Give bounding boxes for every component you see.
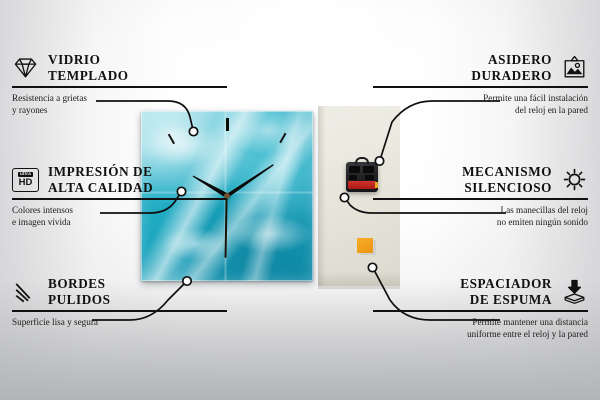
feature-divider bbox=[373, 198, 588, 199]
picture-frame-hanger-icon bbox=[561, 54, 588, 81]
feature-divider bbox=[373, 86, 588, 87]
wire-endpoint-espaciador bbox=[368, 263, 376, 271]
foam-spacer-arrow-icon bbox=[561, 278, 588, 305]
feature-header: ESPACIADOR DE ESPUMA bbox=[373, 276, 588, 307]
feature-header: ultra HD IMPRESIÓN DE ALTA CALIDAD bbox=[12, 164, 227, 195]
feature-title: VIDRIO TEMPLADO bbox=[48, 52, 129, 83]
feature-header: MECANISMO SILENCIOSO bbox=[373, 164, 588, 195]
ultra-hd-badge-icon: ultra HD bbox=[12, 168, 39, 192]
feature-divider bbox=[12, 310, 227, 311]
feature-title: ESPACIADOR DE ESPUMA bbox=[460, 276, 552, 307]
feature-description: Permite una fácil instalación del reloj … bbox=[373, 92, 588, 117]
feature-title: IMPRESIÓN DE ALTA CALIDAD bbox=[48, 164, 153, 195]
diamond-icon bbox=[12, 54, 39, 81]
feature-asidero-duradero: ASIDERO DURADERO Permite una fácil insta… bbox=[373, 52, 588, 116]
feature-vidrio-templado: VIDRIO TEMPLADO Resistencia a grietas y … bbox=[12, 52, 227, 116]
feature-description: Permite mantener una distancia uniforme … bbox=[373, 316, 588, 341]
feature-bordes-pulidos: BORDES PULIDOS Superficie lisa y segura bbox=[12, 276, 227, 328]
ultra-hd-badge-large-label: HD bbox=[19, 178, 33, 188]
wire-endpoint-vidrio-templado bbox=[189, 127, 197, 135]
feature-header: BORDES PULIDOS bbox=[12, 276, 227, 307]
feature-description: Superficie lisa y segura bbox=[12, 316, 227, 328]
gear-icon bbox=[561, 166, 588, 193]
feature-title: ASIDERO DURADERO bbox=[471, 52, 552, 83]
wire-endpoint-mecanismo bbox=[340, 193, 348, 201]
feature-espaciador-de-espuma: ESPACIADOR DE ESPUMA Permite mantener un… bbox=[373, 276, 588, 340]
polished-edges-icon bbox=[12, 278, 39, 305]
feature-divider bbox=[12, 86, 227, 87]
feature-header: ASIDERO DURADERO bbox=[373, 52, 588, 83]
feature-mecanismo-silencioso: MECANISMO SILENCIOSO Las manecillas del … bbox=[373, 164, 588, 228]
feature-description: Resistencia a grietas y rayones bbox=[12, 92, 227, 117]
feature-impresion-alta-calidad: ultra HD IMPRESIÓN DE ALTA CALIDAD Color… bbox=[12, 164, 227, 228]
feature-divider bbox=[12, 198, 227, 199]
feature-title: BORDES PULIDOS bbox=[48, 276, 110, 307]
feature-description: Las manecillas del reloj no emiten ningú… bbox=[373, 204, 588, 229]
feature-title: MECANISMO SILENCIOSO bbox=[462, 164, 552, 195]
feature-divider bbox=[373, 310, 588, 311]
feature-description: Colores intensos e imagen vívida bbox=[12, 204, 227, 229]
infographic-stage: VIDRIO TEMPLADO Resistencia a grietas y … bbox=[0, 0, 600, 400]
feature-header: VIDRIO TEMPLADO bbox=[12, 52, 227, 83]
